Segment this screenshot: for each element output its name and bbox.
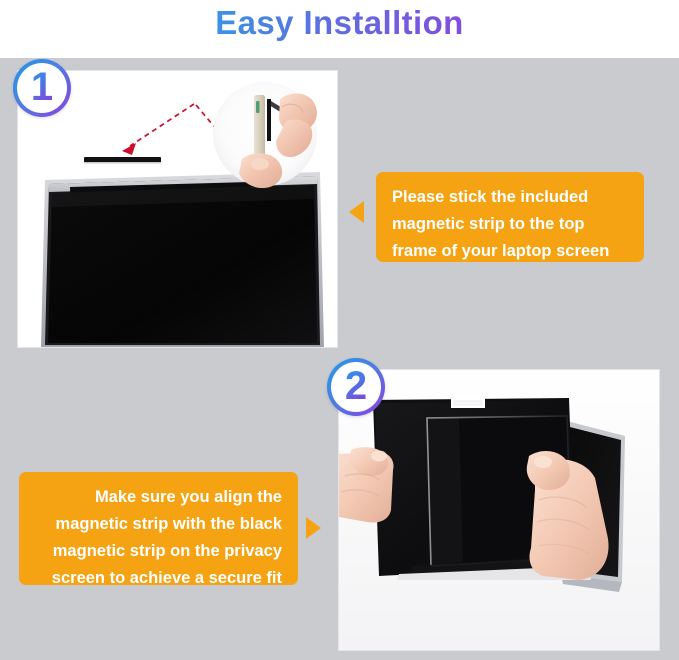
loose-magnetic-strip (84, 157, 161, 164)
left-hand (339, 447, 394, 522)
step-1-callout-pointer (349, 201, 364, 223)
step-1-number: 1 (15, 61, 69, 115)
laptop-device (41, 172, 324, 348)
step-2-illustration (339, 370, 660, 651)
step-2-callout-line-1: Make sure you align the (35, 484, 282, 511)
step-2-callout-line-3: magnetic strip on the privacy (35, 538, 282, 565)
step-1-badge: 1 (13, 59, 71, 117)
step-2-photo-panel (338, 369, 660, 651)
step-2-callout-pointer (306, 517, 321, 539)
step-1-callout-line-3: frame of your laptop screen (392, 238, 628, 265)
step-1-callout-line-1: Please stick the included (392, 184, 628, 211)
step-1-callout-line-2: magnetic strip to the top (392, 211, 628, 238)
step-2-badge: 2 (327, 358, 385, 416)
step-2-number: 2 (329, 360, 383, 414)
step-2-callout-line-2: magnetic strip with the black (35, 511, 282, 538)
page-title: Easy Installtion (0, 0, 679, 46)
step-2-callout: Make sure you align the magnetic strip w… (19, 472, 298, 585)
step-2-callout-line-4: screen to achieve a secure fit (35, 565, 282, 592)
step-1-callout: Please stick the included magnetic strip… (376, 172, 644, 262)
